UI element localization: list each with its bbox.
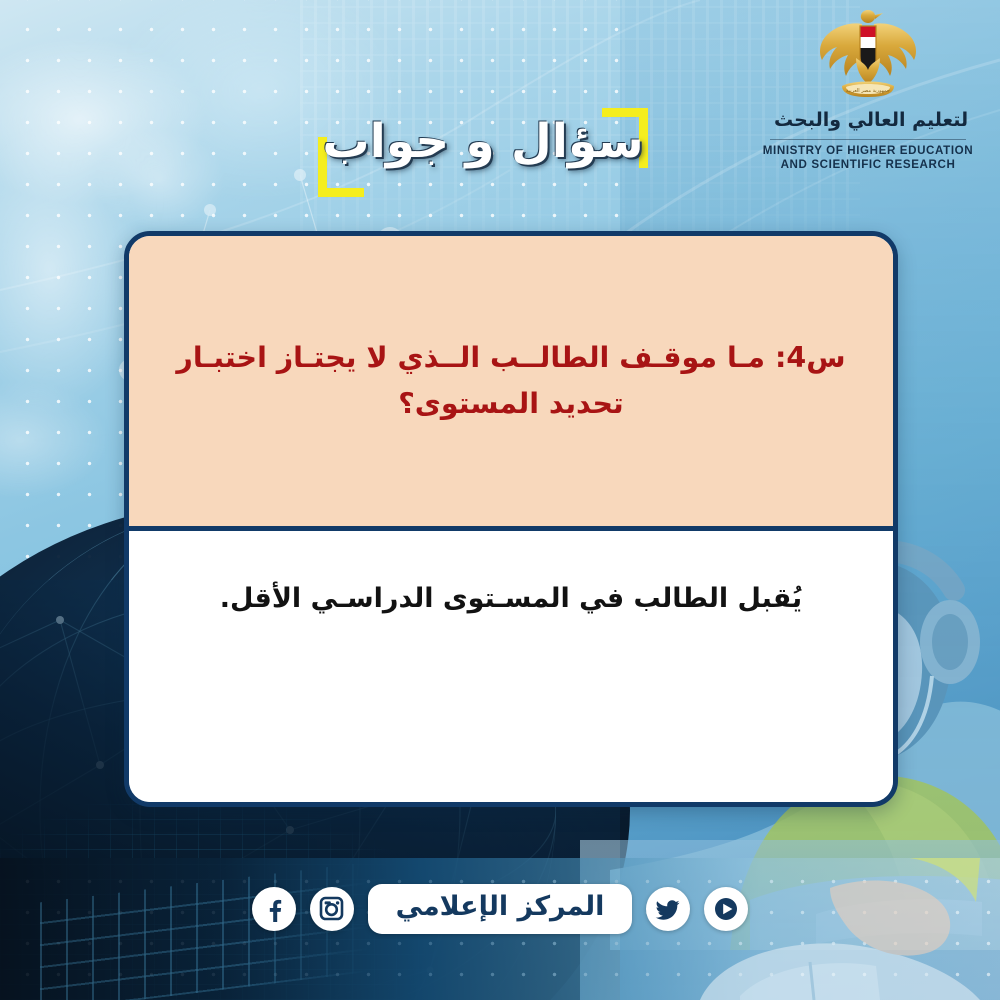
- instagram-icon: [319, 896, 344, 921]
- ministry-name-english: MINISTRY OF HIGHER EDUCATION AND SCIENTI…: [762, 144, 974, 172]
- facebook-button[interactable]: [252, 887, 296, 931]
- twitter-button[interactable]: [646, 887, 690, 931]
- ministry-logo: جمهورية مصر العربية وزارة التعليم العالي…: [762, 8, 974, 186]
- media-center-label-pill[interactable]: المركز الإعلامي: [368, 884, 633, 934]
- qa-card: س4: مـا موقـف الطالــب الــذي لا يجتـاز …: [124, 231, 898, 807]
- twitter-icon: [655, 896, 681, 922]
- page-title: سؤال و جواب: [318, 114, 648, 169]
- question-text: س4: مـا موقـف الطالــب الــذي لا يجتـاز …: [171, 335, 851, 427]
- ministry-name-arabic-icon: وزارة التعليم العالي والبحث العلمي: [768, 103, 968, 135]
- footer: المركز الإعلامي: [0, 858, 1000, 1000]
- answer-panel: يُقبل الطالب في المسـتوى الدراسـي الأقل.: [129, 531, 893, 802]
- title-block: سؤال و جواب: [318, 108, 648, 194]
- social-links-row: المركز الإعلامي: [0, 884, 1000, 934]
- question-panel: س4: مـا موقـف الطالــب الــذي لا يجتـاز …: [129, 236, 893, 531]
- logo-divider: [770, 139, 966, 140]
- svg-text:جمهورية مصر العربية: جمهورية مصر العربية: [846, 88, 890, 94]
- poster-canvas: جمهورية مصر العربية وزارة التعليم العالي…: [0, 0, 1000, 1000]
- facebook-icon: [261, 896, 287, 922]
- media-center-label: المركز الإعلامي: [396, 891, 605, 922]
- youtube-button[interactable]: [704, 887, 748, 931]
- youtube-icon: [713, 896, 739, 922]
- instagram-button[interactable]: [310, 887, 354, 931]
- eagle-emblem-icon: جمهورية مصر العربية: [816, 8, 920, 100]
- ministry-name-arabic-wrap: وزارة التعليم العالي والبحث العلمي: [762, 102, 974, 136]
- header: جمهورية مصر العربية وزارة التعليم العالي…: [0, 0, 1000, 232]
- ministry-name-arabic: وزارة التعليم العالي والبحث العلمي: [768, 109, 968, 131]
- answer-text: يُقبل الطالب في المسـتوى الدراسـي الأقل.: [220, 577, 802, 620]
